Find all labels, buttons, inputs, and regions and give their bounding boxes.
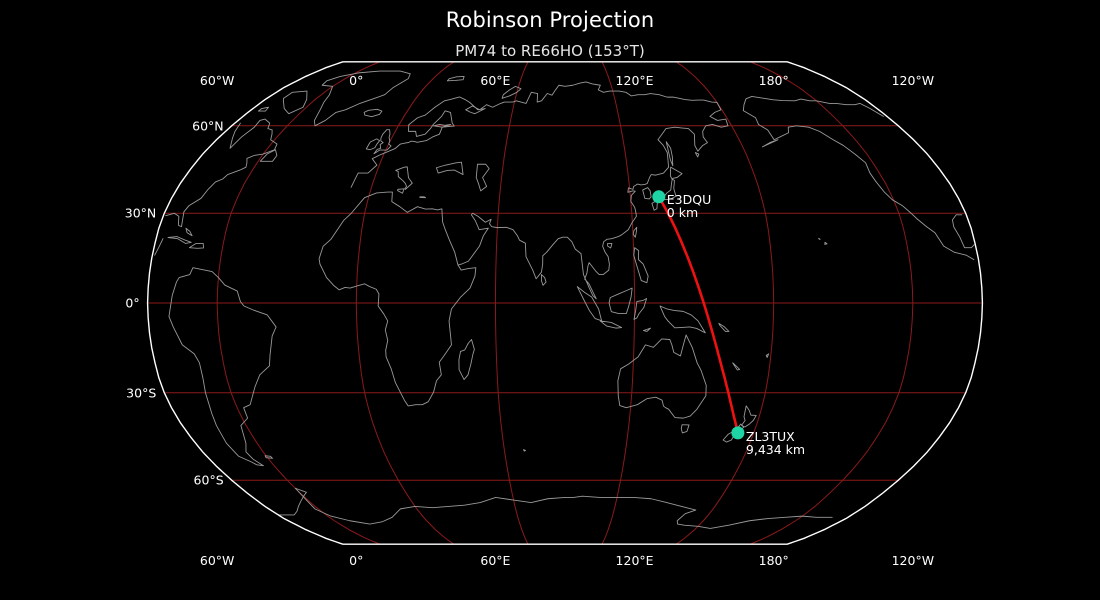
coastline-segment: [364, 109, 382, 116]
coastline-segment: [825, 242, 827, 244]
coastline-segment: [541, 275, 546, 286]
point-label-destination: ZL3TUX 9,434 km: [746, 430, 805, 456]
coastline-segment: [351, 82, 728, 299]
coastline-segment: [733, 363, 740, 370]
longitude-tick-bottom-0: 0°: [349, 553, 363, 568]
coastline-segment: [374, 130, 391, 154]
longitude-tick-bottom-1: 60°E: [480, 553, 510, 568]
longitude-tick-5: 60°W: [200, 73, 235, 88]
coastline-segment: [436, 162, 463, 174]
coastline-segment: [600, 321, 621, 328]
map-graticule: [148, 62, 983, 544]
coastline-segment: [169, 268, 276, 466]
coastline-segment: [524, 450, 526, 451]
longitude-tick-bottom-4: 120°W: [892, 553, 934, 568]
latitude-tick-0: 60°N: [0, 118, 224, 133]
coastline-segment: [295, 488, 832, 528]
coastline-segment: [278, 488, 306, 515]
latitude-tick-4: 60°S: [0, 473, 224, 488]
coastline-segment: [660, 306, 705, 333]
figure-canvas: Robinson Projection PM74 to RE66HO (153°…: [0, 0, 1100, 600]
coastline-segment: [265, 456, 272, 459]
coastline-segment: [366, 139, 379, 150]
coastline-segment: [634, 248, 648, 283]
coastline-segment: [742, 406, 757, 427]
coastline-segment: [577, 287, 601, 321]
coastline-segment: [459, 339, 474, 379]
coastline-segment: [819, 238, 821, 239]
coastline-segment: [695, 153, 699, 157]
coastline-segment: [258, 107, 268, 111]
coastline-segment: [447, 76, 464, 80]
coastline-segment: [168, 237, 191, 244]
longitude-tick-0: 0°: [349, 73, 363, 88]
coastline-segment: [609, 288, 632, 313]
coastline-segment: [189, 243, 203, 248]
coastline-segment: [719, 323, 729, 331]
longitude-tick-bottom-3: 180°: [759, 553, 789, 568]
coastline-segment: [643, 188, 651, 199]
coastline-segment: [644, 328, 651, 331]
great-circle-path: [659, 197, 738, 433]
coastline-segment: [260, 150, 277, 162]
marker-destination[interactable]: [731, 426, 744, 439]
coastline-segment: [743, 96, 883, 116]
coastline-segment: [476, 164, 489, 191]
latitude-tick-3: 30°S: [0, 385, 156, 400]
longitude-tick-bottom-2: 120°E: [616, 553, 654, 568]
latitude-tick-1: 30°N: [0, 206, 156, 221]
coastline-segment: [952, 215, 974, 248]
point-distance-destination: 9,434 km: [746, 443, 805, 456]
point-distance-origin: 0 km: [667, 206, 711, 219]
coastline-segment: [634, 299, 647, 320]
coastline-segment: [743, 111, 974, 260]
coastline-segment: [762, 140, 778, 147]
coastline-segment: [396, 167, 413, 190]
longitude-tick-bottom-5: 60°W: [200, 553, 235, 568]
coastline-segment: [186, 228, 192, 235]
coastline-segment: [319, 192, 476, 406]
robinson-map: [0, 0, 1100, 600]
coastline-segment: [681, 425, 689, 433]
latitude-tick-2: 0°: [0, 296, 140, 311]
longitude-tick-2: 120°E: [616, 73, 654, 88]
coastline-segment: [766, 354, 768, 358]
longitude-tick-1: 60°E: [480, 73, 510, 88]
longitude-tick-3: 180°: [759, 73, 789, 88]
coastline-segment: [420, 197, 426, 198]
coastline-segment: [633, 227, 637, 237]
point-label-origin: E3DQU 0 km: [667, 193, 711, 219]
coastline-segment: [608, 243, 612, 247]
longitude-tick-4: 120°W: [892, 73, 934, 88]
coastline-segment: [398, 189, 404, 193]
map-coastlines: [155, 71, 974, 528]
marker-origin[interactable]: [652, 190, 665, 203]
